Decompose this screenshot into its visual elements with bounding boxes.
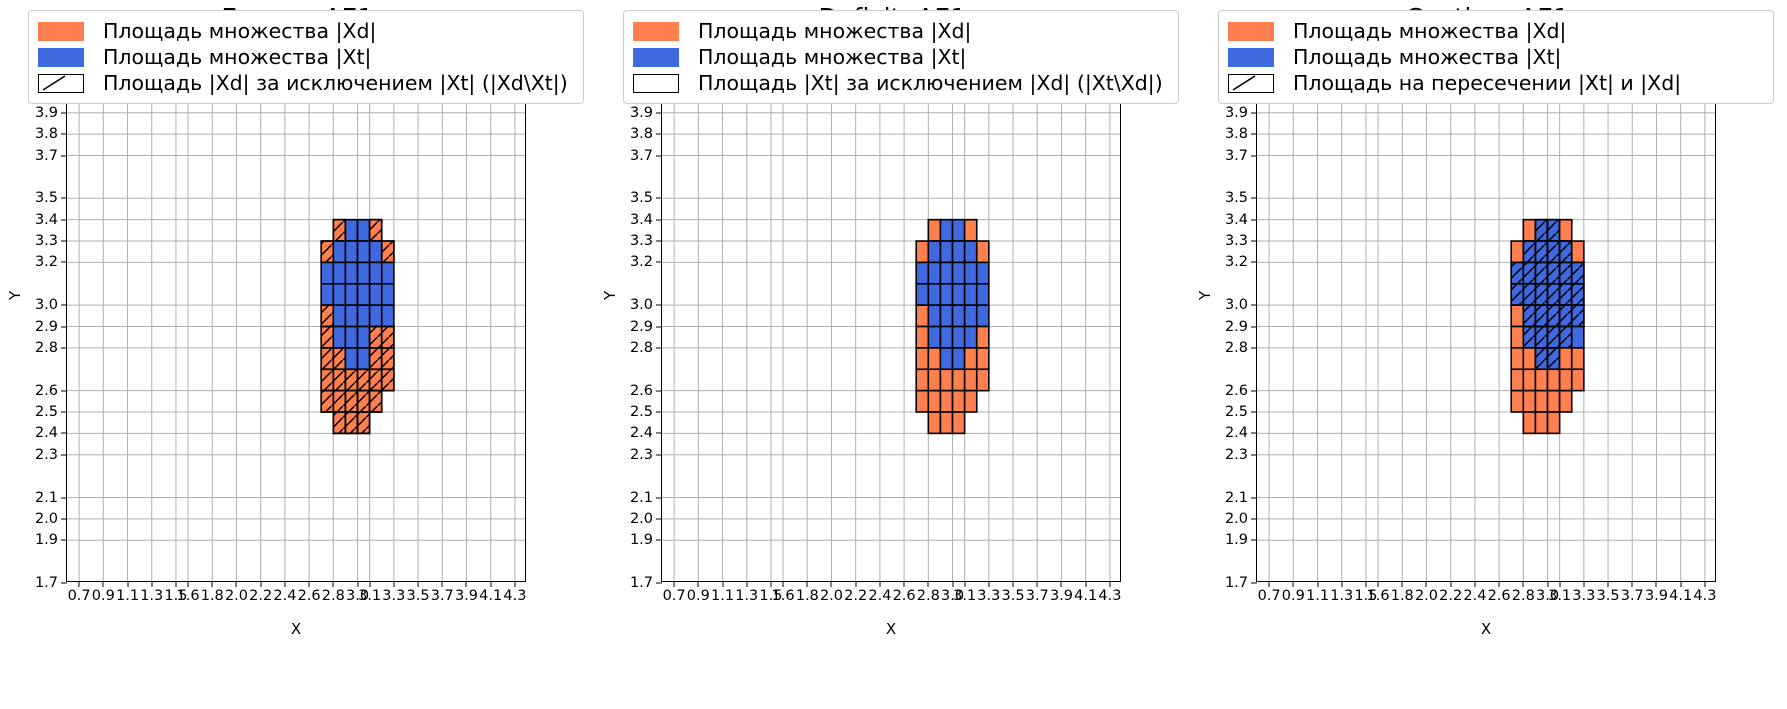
y-tick-label: 1.9: [630, 532, 653, 548]
grid-cell: [1548, 391, 1560, 412]
y-tick-label: 2.0: [35, 511, 58, 527]
y-tick-label: 3.8: [1225, 126, 1248, 142]
grid-cell: [965, 305, 977, 326]
grid-cell: [370, 241, 382, 262]
x-tick-mark: [1704, 581, 1705, 587]
grid-cell: [345, 220, 357, 241]
x-tick-mark: [357, 581, 358, 587]
grid-cell: [1523, 220, 1535, 241]
x-tick-mark: [904, 581, 905, 587]
x-tick-mark: [783, 581, 784, 587]
x-tick-label: 2.2: [1439, 588, 1462, 604]
y-tick-label: 2.4: [630, 425, 653, 441]
y-tick-label: 1.7: [35, 575, 58, 591]
grid-cell-hatch: [1523, 327, 1535, 348]
y-tick-label: 2.6: [35, 383, 58, 399]
y-tick-label: 3.4: [630, 212, 653, 228]
y-tick-label: 3.4: [35, 212, 58, 228]
x-tick-mark: [964, 581, 965, 587]
grid-cell: [916, 305, 928, 326]
y-tick-label: 3.3: [1225, 233, 1248, 249]
x-tick-label: 0.7: [1258, 588, 1281, 604]
y-tick-label: 2.4: [1225, 425, 1248, 441]
grid-cell-hatch: [1523, 284, 1535, 305]
grid-cell: [953, 391, 965, 412]
grid-cell: [358, 305, 370, 326]
grid-cell: [916, 391, 928, 412]
x-tick-mark: [393, 581, 394, 587]
grid-cell: [928, 305, 940, 326]
y-tick-label: 3.9: [630, 105, 653, 121]
legend-item[interactable]: Площадь |Xt| за исключением |Xd| (|Xt\Xd…: [633, 70, 1168, 96]
x-tick-label: 3.3: [1572, 588, 1595, 604]
y-tick-label: 2.9: [1225, 319, 1248, 335]
x-tick-label: 2.8: [1512, 588, 1535, 604]
y-tick-label: 3.0: [630, 297, 653, 313]
grid-cell: [916, 262, 928, 283]
x-tick-mark: [103, 581, 104, 587]
grid-cell: [953, 305, 965, 326]
x-tick-mark: [79, 581, 80, 587]
y-tick-label: 1.9: [35, 532, 58, 548]
grid-cell-hatch: [333, 348, 345, 369]
x-tick-label: 0.7: [68, 588, 91, 604]
x-tick-label: 1.1: [1306, 588, 1329, 604]
grid-cell: [965, 369, 977, 390]
grid-cell: [1523, 369, 1535, 390]
y-tick-mark: [61, 583, 67, 584]
legend[interactable]: Площадь множества |Xd|Площадь множества …: [1218, 10, 1774, 104]
grid-cell: [358, 220, 370, 241]
x-tick-label: 3.7: [431, 588, 454, 604]
grid-cell-hatch: [333, 391, 345, 412]
x-tick-label: 3.9: [1050, 588, 1073, 604]
grid-cell-hatch: [1535, 220, 1547, 241]
x-tick-label: 4.1: [479, 588, 502, 604]
y-tick-label: 2.8: [35, 340, 58, 356]
grid-cell-hatch: [358, 391, 370, 412]
legend-swatch-hatch-icon: [38, 74, 84, 93]
grid-cell-hatch: [370, 348, 382, 369]
grid-cell-hatch: [1560, 262, 1572, 283]
grid-cell-hatch: [1560, 327, 1572, 348]
x-tick-label: 2.0: [1415, 588, 1438, 604]
x-tick-mark: [1547, 581, 1548, 587]
x-tick-mark: [175, 581, 176, 587]
grid-cell-hatch: [1535, 241, 1547, 262]
grid-cell-hatch: [1535, 305, 1547, 326]
x-tick-mark: [466, 581, 467, 587]
y-axis-label: Y: [1196, 291, 1214, 300]
x-tick-label: 1.6: [1367, 588, 1390, 604]
grid-cell-hatch: [1535, 348, 1547, 369]
grid-cell: [928, 241, 940, 262]
legend[interactable]: Площадь множества |Xd|Площадь множества …: [28, 10, 584, 104]
grid-cell: [928, 262, 940, 283]
grid-cell: [345, 348, 357, 369]
y-tick-label: 1.9: [1225, 532, 1248, 548]
x-tick-label: 1.8: [1391, 588, 1414, 604]
grid-cell: [916, 348, 928, 369]
grid-cell: [382, 262, 394, 283]
x-tick-mark: [1680, 581, 1681, 587]
x-tick-mark: [1523, 581, 1524, 587]
x-tick-mark: [1365, 581, 1366, 587]
grid-cell-hatch: [1523, 305, 1535, 326]
grid-cell: [940, 305, 952, 326]
grid-cell-hatch: [370, 391, 382, 412]
grid-cell: [1535, 391, 1547, 412]
y-tick-label: 2.8: [1225, 340, 1248, 356]
x-axis-label: X: [661, 620, 1121, 638]
grid-cell: [940, 241, 952, 262]
grid-cell: [1560, 369, 1572, 390]
x-tick-label: 1.1: [711, 588, 734, 604]
grid-cell: [1548, 369, 1560, 390]
x-tick-label: 1.6: [177, 588, 200, 604]
legend-swatch-blue-icon: [38, 48, 84, 67]
x-tick-mark: [1656, 581, 1657, 587]
legend-label: Площадь |Xd| за исключением |Xt| (|Xd\Xt…: [103, 72, 568, 94]
y-tick-label: 3.7: [1225, 148, 1248, 164]
x-tick-label: 0.7: [663, 588, 686, 604]
y-tick-label: 3.7: [630, 148, 653, 164]
grid-cell: [965, 241, 977, 262]
chart-panel-3: Coating. AE14.24.13.93.83.73.53.43.33.23…: [1190, 0, 1785, 709]
grid-cell: [1511, 391, 1523, 412]
grid-cell-hatch: [1535, 262, 1547, 283]
x-tick-mark: [1085, 581, 1086, 587]
grid-cell: [916, 241, 928, 262]
x-tick-label: 2.6: [1488, 588, 1511, 604]
y-tick-label: 3.5: [630, 190, 653, 206]
y-tick-label: 3.0: [35, 297, 58, 313]
x-tick-label: 4.1: [1669, 588, 1692, 604]
x-tick-mark: [212, 581, 213, 587]
x-tick-mark: [1293, 581, 1294, 587]
grid-cell: [1560, 391, 1572, 412]
legend-item[interactable]: Площадь множества |Xd|: [1228, 18, 1763, 44]
grid-cell-hatch: [1572, 305, 1584, 326]
x-tick-label: 3.3: [977, 588, 1000, 604]
x-tick-label: 2.2: [844, 588, 867, 604]
y-tick-label: 3.4: [1225, 212, 1248, 228]
grid-cell-hatch: [1523, 262, 1535, 283]
grid-cell-hatch: [1572, 284, 1584, 305]
x-tick-label: 0.9: [687, 588, 710, 604]
y-tick-mark: [1251, 583, 1257, 584]
grid-cell: [928, 220, 940, 241]
x-tick-mark: [514, 581, 515, 587]
grid-cell: [977, 327, 989, 348]
x-tick-mark: [831, 581, 832, 587]
legend-item[interactable]: Площадь множества |Xt|: [38, 44, 573, 70]
y-tick-label: 3.8: [35, 126, 58, 142]
grid-cell: [358, 284, 370, 305]
x-tick-mark: [127, 581, 128, 587]
grid-cell-hatch: [1548, 284, 1560, 305]
x-tick-mark: [1499, 581, 1500, 587]
x-tick-mark: [928, 581, 929, 587]
x-tick-label: 3.9: [1645, 588, 1668, 604]
x-tick-mark: [1269, 581, 1270, 587]
grid-cell: [965, 262, 977, 283]
x-tick-label: 3.1: [358, 588, 381, 604]
grid-cell: [953, 348, 965, 369]
x-tick-mark: [309, 581, 310, 587]
grid-cell-hatch: [1560, 241, 1572, 262]
grid-cell: [333, 284, 345, 305]
grid-cell: [358, 262, 370, 283]
legend-label: Площадь множества |Xd|: [1293, 20, 1566, 42]
y-tick-label: 3.5: [1225, 190, 1248, 206]
x-tick-label: 2.4: [273, 588, 296, 604]
x-tick-label: 0.9: [92, 588, 115, 604]
grid-cell: [953, 369, 965, 390]
grid-cell: [358, 327, 370, 348]
y-tick-label: 2.0: [630, 511, 653, 527]
x-tick-label: 4.3: [1693, 588, 1716, 604]
x-tick-mark: [1317, 581, 1318, 587]
x-tick-label: 3.5: [407, 588, 430, 604]
grid-cell: [1572, 348, 1584, 369]
y-tick-label: 2.0: [1225, 511, 1248, 527]
grid-cell: [977, 241, 989, 262]
x-axis-label: X: [66, 620, 526, 638]
y-tick-label: 2.1: [35, 490, 58, 506]
grid-cell: [370, 262, 382, 283]
x-axis-label: X: [1256, 620, 1716, 638]
x-tick-label: 2.8: [917, 588, 940, 604]
grid-cell: [940, 262, 952, 283]
grid-cell: [940, 348, 952, 369]
legend-label: Площадь множества |Xt|: [1293, 46, 1561, 68]
y-tick-label: 2.1: [630, 490, 653, 506]
x-tick-label: 2.2: [249, 588, 272, 604]
y-tick-label: 2.5: [630, 404, 653, 420]
x-tick-label: 1.3: [1330, 588, 1353, 604]
grid-cell: [965, 348, 977, 369]
chart-panel-1: Excess. AE14.24.13.93.83.73.53.43.33.23.…: [0, 0, 595, 709]
y-tick-label: 3.7: [35, 148, 58, 164]
x-tick-mark: [1402, 581, 1403, 587]
y-tick-mark: [656, 583, 662, 584]
y-tick-label: 3.2: [630, 254, 653, 270]
grid-cell: [345, 262, 357, 283]
grid-cell: [940, 327, 952, 348]
grid-cell-hatch: [321, 369, 333, 390]
legend-item[interactable]: Площадь на пересечении |Xt| и |Xd|: [1228, 70, 1763, 96]
x-tick-mark: [1378, 581, 1379, 587]
legend-label: Площадь множества |Xd|: [698, 20, 971, 42]
grid-cell: [1535, 412, 1547, 433]
plot-area: 4.24.13.93.83.73.53.43.33.23.02.92.82.62…: [1256, 37, 1716, 582]
x-tick-label: 3.1: [953, 588, 976, 604]
x-tick-label: 3.3: [382, 588, 405, 604]
x-tick-label: 2.0: [225, 588, 248, 604]
x-tick-mark: [1037, 581, 1038, 587]
grid-cell-hatch: [370, 327, 382, 348]
x-tick-mark: [369, 581, 370, 587]
y-tick-label: 3.9: [35, 105, 58, 121]
y-axis-label: Y: [601, 291, 619, 300]
grid-cell-hatch: [1560, 284, 1572, 305]
grid-cell-hatch: [1572, 262, 1584, 283]
grid-cell-hatch: [382, 369, 394, 390]
x-tick-mark: [188, 581, 189, 587]
legend-item[interactable]: Площадь множества |Xt|: [633, 44, 1168, 70]
x-tick-label: 1.8: [796, 588, 819, 604]
grid-cell: [1560, 348, 1572, 369]
x-tick-label: 3.5: [1597, 588, 1620, 604]
x-tick-mark: [1583, 581, 1584, 587]
grid-cell: [928, 369, 940, 390]
grid-cell-hatch: [1560, 305, 1572, 326]
grid-cell-hatch: [1523, 241, 1535, 262]
grid-cell: [977, 305, 989, 326]
grid-cell-hatch: [1548, 327, 1560, 348]
x-tick-mark: [1632, 581, 1633, 587]
y-tick-label: 3.0: [1225, 297, 1248, 313]
grid-cell-hatch: [1548, 348, 1560, 369]
plot-area: 4.24.13.93.83.73.53.43.33.23.02.92.82.62…: [661, 37, 1121, 582]
y-tick-label: 2.6: [1225, 383, 1248, 399]
grid-cell-hatch: [321, 327, 333, 348]
y-tick-label: 3.8: [630, 126, 653, 142]
grid-cell: [940, 412, 952, 433]
legend-item[interactable]: Площадь |Xd| за исключением |Xt| (|Xd\Xt…: [38, 70, 573, 96]
x-tick-mark: [1109, 581, 1110, 587]
grid-cell: [370, 284, 382, 305]
grid-cell-hatch: [321, 391, 333, 412]
x-tick-label: 1.6: [772, 588, 795, 604]
grid-cell-hatch: [1548, 220, 1560, 241]
grid-cell: [953, 241, 965, 262]
grid-cell: [977, 369, 989, 390]
grid-cell: [1523, 348, 1535, 369]
legend-item[interactable]: Площадь множества |Xd|: [633, 18, 1168, 44]
grid-cell: [333, 305, 345, 326]
x-tick-label: 2.0: [820, 588, 843, 604]
x-tick-label: 1.8: [201, 588, 224, 604]
y-tick-label: 2.8: [630, 340, 653, 356]
grid-cell: [345, 305, 357, 326]
grid-cell-hatch: [382, 348, 394, 369]
legend-swatch-orange-icon: [38, 22, 84, 41]
y-tick-label: 2.3: [1225, 447, 1248, 463]
grid-cell-hatch: [1511, 284, 1523, 305]
figure-canvas: Excess. AE14.24.13.93.83.73.53.43.33.23.…: [0, 0, 1787, 709]
x-tick-label: 2.8: [322, 588, 345, 604]
x-tick-mark: [236, 581, 237, 587]
grid-cell: [345, 327, 357, 348]
x-tick-mark: [333, 581, 334, 587]
legend-swatch-hatch-icon: [1228, 74, 1274, 93]
x-tick-mark: [855, 581, 856, 587]
grid-cell: [953, 220, 965, 241]
y-tick-label: 3.3: [35, 233, 58, 249]
grid-and-cells: [662, 38, 1120, 581]
grid-cell-hatch: [1548, 305, 1560, 326]
x-tick-mark: [1559, 581, 1560, 587]
grid-cell: [1535, 369, 1547, 390]
legend-swatch-blue-icon: [1228, 48, 1274, 67]
x-tick-mark: [674, 581, 675, 587]
grid-cell: [928, 327, 940, 348]
x-tick-mark: [1061, 581, 1062, 587]
grid-cell: [1511, 327, 1523, 348]
grid-cell: [1572, 327, 1584, 348]
legend-label: Площадь множества |Xt|: [698, 46, 966, 68]
x-tick-mark: [442, 581, 443, 587]
x-tick-mark: [1450, 581, 1451, 587]
grid-cell-hatch: [358, 369, 370, 390]
grid-cell: [1511, 348, 1523, 369]
grid-cell: [953, 327, 965, 348]
grid-cell: [1560, 220, 1572, 241]
x-tick-label: 2.6: [893, 588, 916, 604]
grid-and-cells: [67, 38, 525, 581]
grid-cell: [940, 220, 952, 241]
x-tick-label: 3.5: [1002, 588, 1025, 604]
grid-cell-hatch: [358, 412, 370, 433]
legend-label: Площадь множества |Xd|: [103, 20, 376, 42]
y-tick-label: 2.3: [35, 447, 58, 463]
plot-area: 4.24.13.93.83.73.53.43.33.23.02.92.82.62…: [66, 37, 526, 582]
y-tick-label: 2.3: [630, 447, 653, 463]
grid-cell: [977, 348, 989, 369]
x-tick-mark: [260, 581, 261, 587]
y-tick-label: 3.2: [35, 254, 58, 270]
legend-item[interactable]: Площадь множества |Xd|: [38, 18, 573, 44]
grid-cell: [977, 262, 989, 283]
legend-label: Площадь на пересечении |Xt| и |Xd|: [1293, 72, 1681, 94]
x-tick-label: 4.3: [1098, 588, 1121, 604]
x-tick-mark: [418, 581, 419, 587]
x-tick-label: 4.3: [503, 588, 526, 604]
grid-cell: [321, 284, 333, 305]
x-tick-label: 2.4: [1463, 588, 1486, 604]
y-tick-label: 1.7: [630, 575, 653, 591]
x-tick-mark: [490, 581, 491, 587]
x-tick-label: 3.9: [455, 588, 478, 604]
grid-cell: [358, 348, 370, 369]
y-tick-label: 2.4: [35, 425, 58, 441]
y-tick-label: 2.1: [1225, 490, 1248, 506]
x-tick-label: 1.3: [735, 588, 758, 604]
y-tick-label: 2.9: [630, 319, 653, 335]
grid-cell: [916, 327, 928, 348]
grid-cell: [953, 284, 965, 305]
x-tick-mark: [1474, 581, 1475, 587]
grid-cell: [916, 284, 928, 305]
grid-cell: [953, 262, 965, 283]
grid-cell: [1511, 305, 1523, 326]
legend[interactable]: Площадь множества |Xd|Площадь множества …: [623, 10, 1179, 104]
grid-cell: [977, 284, 989, 305]
x-tick-mark: [879, 581, 880, 587]
grid-cell: [370, 305, 382, 326]
grid-cell: [965, 220, 977, 241]
grid-cell-hatch: [382, 327, 394, 348]
grid-and-cells: [1257, 38, 1715, 581]
grid-cell: [940, 284, 952, 305]
x-tick-mark: [770, 581, 771, 587]
legend-item[interactable]: Площадь множества |Xt|: [1228, 44, 1763, 70]
y-tick-label: 2.6: [630, 383, 653, 399]
grid-cell: [1572, 241, 1584, 262]
grid-cell: [916, 369, 928, 390]
